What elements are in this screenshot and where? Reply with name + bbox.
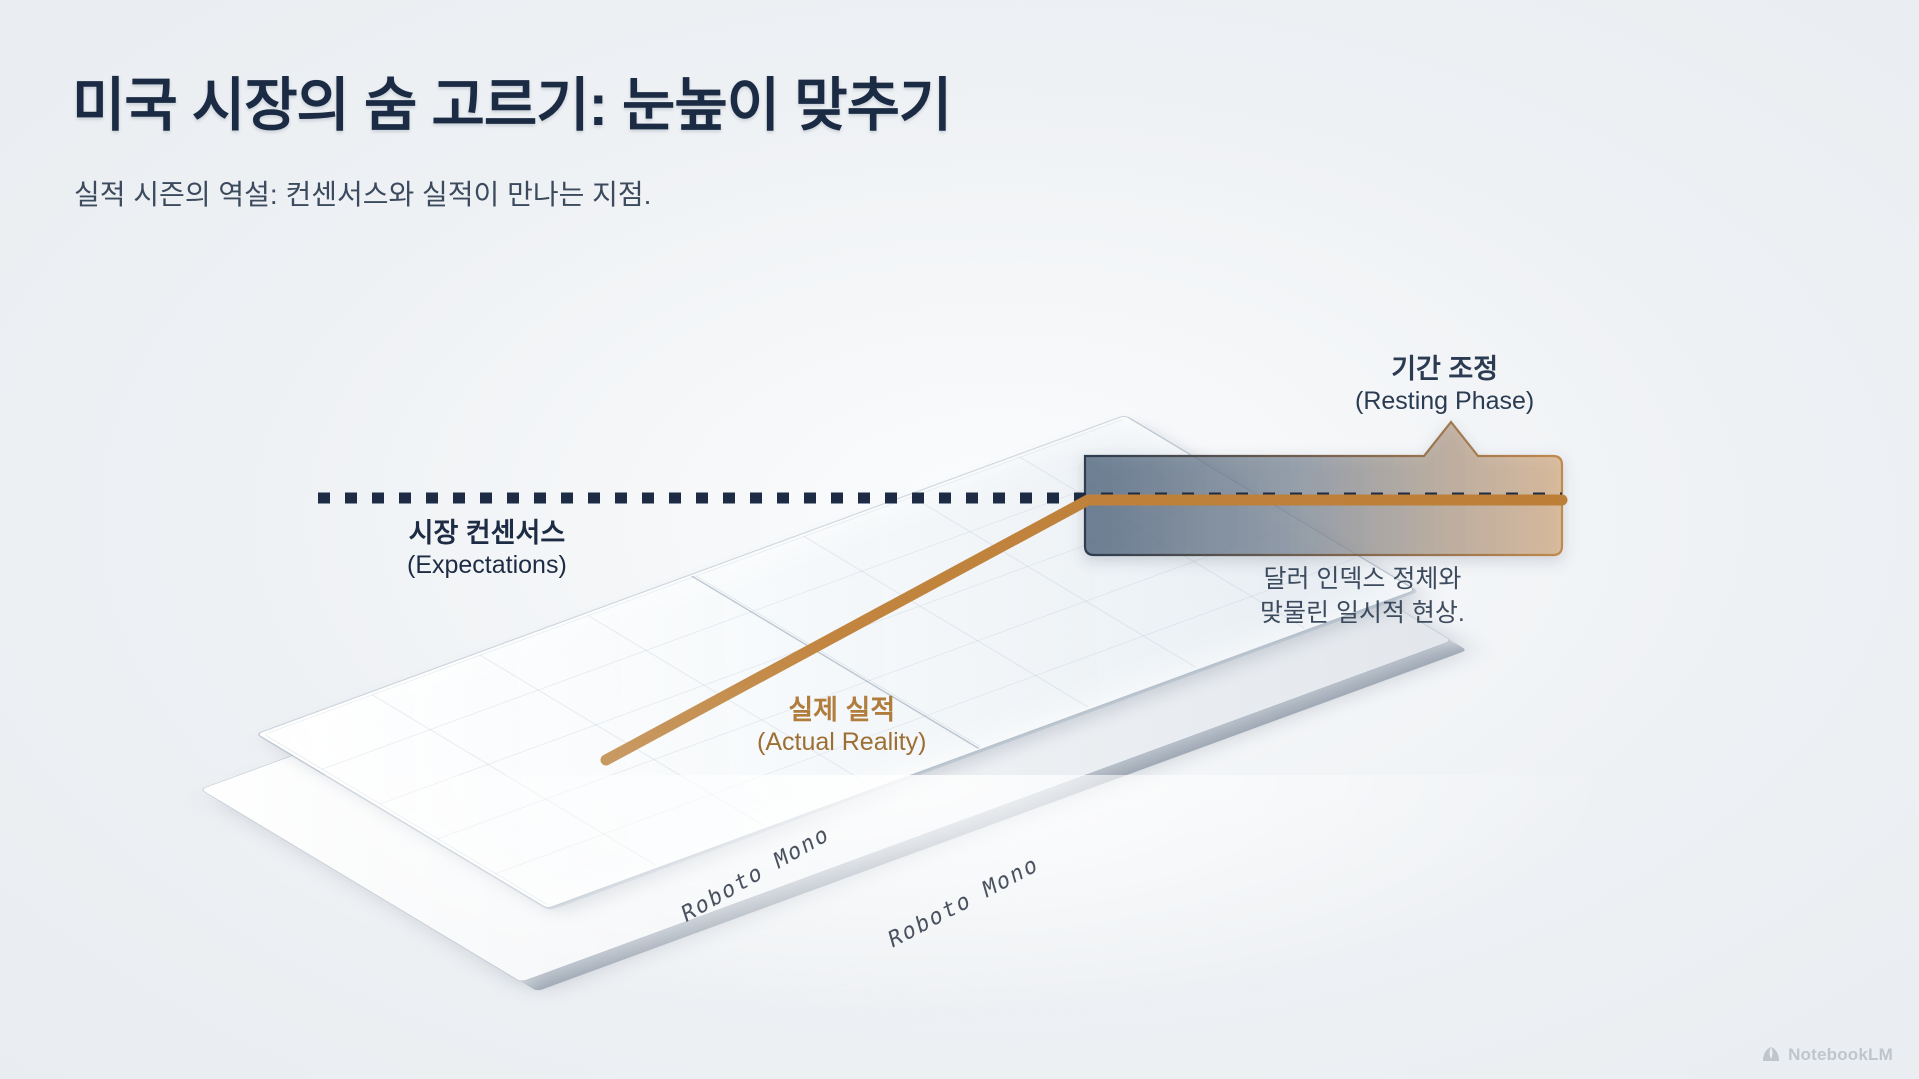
notebooklm-watermark: NotebookLM bbox=[1761, 1045, 1893, 1065]
notebooklm-watermark-text: NotebookLM bbox=[1788, 1045, 1893, 1065]
label-market-consensus-ko: 시장 컨센서스 bbox=[407, 517, 567, 550]
label-actual-reality-ko: 실제 실적 bbox=[757, 694, 927, 727]
label-market-consensus: 시장 컨센서스 (Expectations) bbox=[407, 517, 567, 581]
annotation-note: 달러 인덱스 정체와 맞물린 일시적 현상. bbox=[1260, 562, 1465, 630]
page-title: 미국 시장의 숨 고르기: 눈높이 맞추기 bbox=[72, 58, 951, 142]
notebooklm-logo-icon bbox=[1761, 1046, 1781, 1064]
page-subtitle: 실적 시즌의 역설: 컨센서스와 실적이 만나는 지점. bbox=[74, 173, 651, 213]
annotation-note-line2: 맞물린 일시적 현상. bbox=[1260, 596, 1465, 630]
label-resting-phase: 기간 조정 (Resting Phase) bbox=[1355, 353, 1534, 417]
chart-stage bbox=[0, 215, 1919, 1005]
slide-root: 미국 시장의 숨 고르기: 눈높이 맞추기 실적 시즌의 역설: 컨센서스와 실… bbox=[0, 0, 1919, 1079]
label-actual-reality-en: (Actual Reality) bbox=[757, 727, 927, 759]
label-market-consensus-en: (Expectations) bbox=[407, 550, 567, 582]
label-resting-phase-en: (Resting Phase) bbox=[1355, 386, 1534, 418]
label-actual-reality: 실제 실적 (Actual Reality) bbox=[757, 694, 927, 758]
label-resting-phase-ko: 기간 조정 bbox=[1355, 353, 1534, 386]
annotation-note-line1: 달러 인덱스 정체와 bbox=[1260, 562, 1465, 596]
